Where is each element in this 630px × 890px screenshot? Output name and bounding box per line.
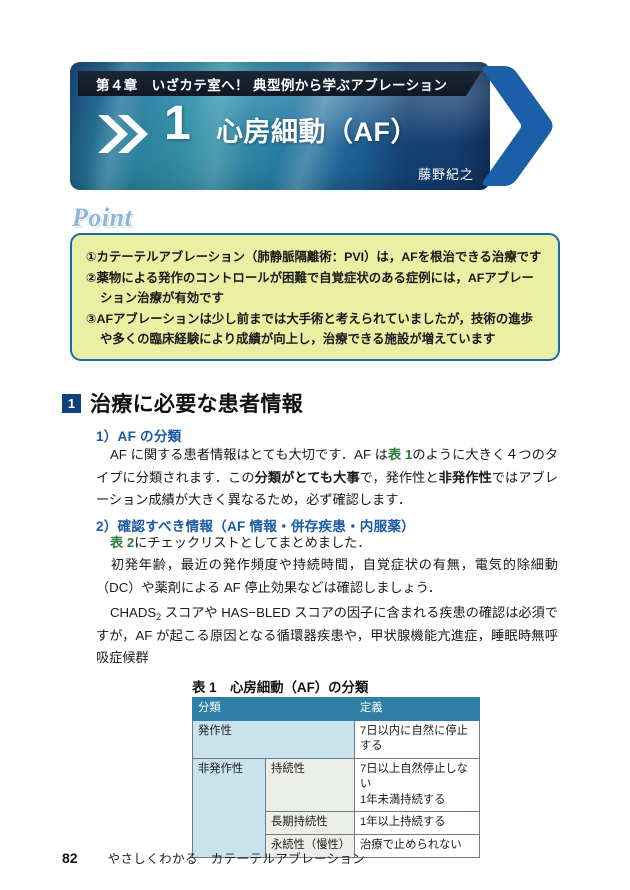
point-marker: ③ (86, 312, 97, 326)
paragraph-checklist: 表 2にチェックリストとしてまとめました． (96, 532, 558, 555)
chapter-bar: 第４章 いざカテ室へ！ 典型例から学ぶアブレーション (78, 71, 482, 96)
section-title: 心房細動（AF） (216, 110, 418, 149)
paragraph-text: にチェックリストとしてまとめました． (134, 535, 370, 550)
paragraph-text: で，発作性と (360, 470, 439, 485)
author-name: 藤野紀之 (418, 164, 474, 183)
paragraph-af-classification: AF に関する患者情報はとても大切です．AF は表 1のように大きく４つのタイプ… (96, 444, 558, 512)
point-item: ③AFアブレーションは少し前までは大手術と考えられていましたが，技術の進歩や多く… (86, 309, 544, 349)
point-text: カテーテルアブレーション（肺静脈隔離術：PVI）は，AFを根治できる治療です (97, 250, 542, 264)
table-header-cell: 定義 (355, 698, 480, 721)
table-reference: 表 1 (388, 447, 412, 462)
paragraph-text: スコアや HAS−BLED スコアの因子に含まれる疾患の確認は必須ですが，AF … (96, 605, 558, 665)
table-cell-category: 非発作性 (193, 758, 266, 857)
table-header-row: 分類 定義 (193, 698, 480, 721)
point-item: ②薬物による発作のコントロールが困難で自覚症状のある症例には，AFアブレーション… (86, 268, 544, 308)
point-text: 薬物による発作のコントロールが困難で自覚症状のある症例には，AFアブレーション治… (97, 271, 534, 305)
paragraph-text: AF に関する患者情報はとても大切です．AF は (110, 447, 388, 462)
paragraph-onset-info: 初発年齢，最近の発作頻度や持続時間，自覚症状の有無，電気的除細動（DC）や薬剤に… (96, 554, 558, 599)
table-header-cell: 分類 (193, 698, 355, 721)
section-banner: 第４章 いざカテ室へ！ 典型例から学ぶアブレーション 1 心房細動（AF） 藤野… (70, 62, 560, 190)
point-marker: ② (86, 271, 97, 285)
page-footer: 82 やさしくわかる カテーテルアブレーション (62, 848, 365, 867)
page-number: 82 (62, 850, 78, 866)
point-item: ①カテーテルアブレーション（肺静脈隔離術：PVI）は，AFを根治できる治療です (86, 247, 544, 267)
table-reference: 表 2 (110, 535, 134, 550)
banner-background: 第４章 いざカテ室へ！ 典型例から学ぶアブレーション 1 心房細動（AF） 藤野… (70, 62, 490, 190)
definition-line-1: 7日以上自然停止しない (360, 763, 468, 791)
table-cell-subcategory: 持続性 (266, 758, 355, 812)
emphasis-text: 非発作性 (439, 470, 492, 485)
point-heading: Point (72, 203, 132, 233)
table-cell-definition: 1年以上持続する (355, 812, 480, 835)
chads-subscript: 2 (156, 612, 161, 622)
definition-line-2: 1年未満持続する (360, 794, 445, 806)
table-row: 発作性 7日以内に自然に停止する (193, 720, 480, 758)
table-cell-definition: 7日以内に自然に停止する (355, 720, 480, 758)
table-cell-definition: 7日以上自然停止しない 1年未満持続する (355, 758, 480, 812)
paragraph-text: 初発年齢，最近の発作頻度や持続時間，自覚症状の有無，電気的除細動（DC）や薬剤に… (96, 557, 558, 595)
paragraph-scores: CHADS2 スコアや HAS−BLED スコアの因子に含まれる疾患の確認は必須… (96, 602, 558, 670)
chevron-right-arrow-icon (474, 62, 562, 190)
table-row: 非発作性 持続性 7日以上自然停止しない 1年未満持続する (193, 758, 480, 812)
subsection-heading-1: 1）AF の分類 (96, 425, 181, 445)
table-caption: 表 1 心房細動（AF）の分類 (192, 676, 368, 696)
section-number-badge: 1 (62, 394, 81, 413)
section-number: 1 (164, 100, 191, 148)
point-text: AFアブレーションは少し前までは大手術と考えられていましたが，技術の進歩や多くの… (97, 312, 533, 346)
book-title: やさしくわかる カテーテルアブレーション (108, 848, 366, 867)
table-cell-definition: 治療で止められない (355, 835, 480, 858)
page-title: 治療に必要な患者情報 (90, 388, 303, 418)
emphasis-text: 分類がとても大事 (255, 470, 360, 485)
chapter-label: 第４章 いざカテ室へ！ 典型例から学ぶアブレーション (78, 74, 447, 94)
point-marker: ① (86, 250, 97, 264)
table-cell-subcategory: 長期持続性 (266, 812, 355, 835)
double-chevron-right-icon (96, 112, 150, 156)
af-classification-table: 分類 定義 発作性 7日以内に自然に停止する 非発作性 持続性 7日以上自然停止… (192, 697, 480, 858)
paragraph-text: CHADS (110, 605, 156, 620)
section-heading: 1 治療に必要な患者情報 (62, 388, 303, 418)
table-cell-category: 発作性 (193, 720, 355, 758)
point-box: ①カテーテルアブレーション（肺静脈隔離術：PVI）は，AFを根治できる治療です … (70, 233, 560, 361)
